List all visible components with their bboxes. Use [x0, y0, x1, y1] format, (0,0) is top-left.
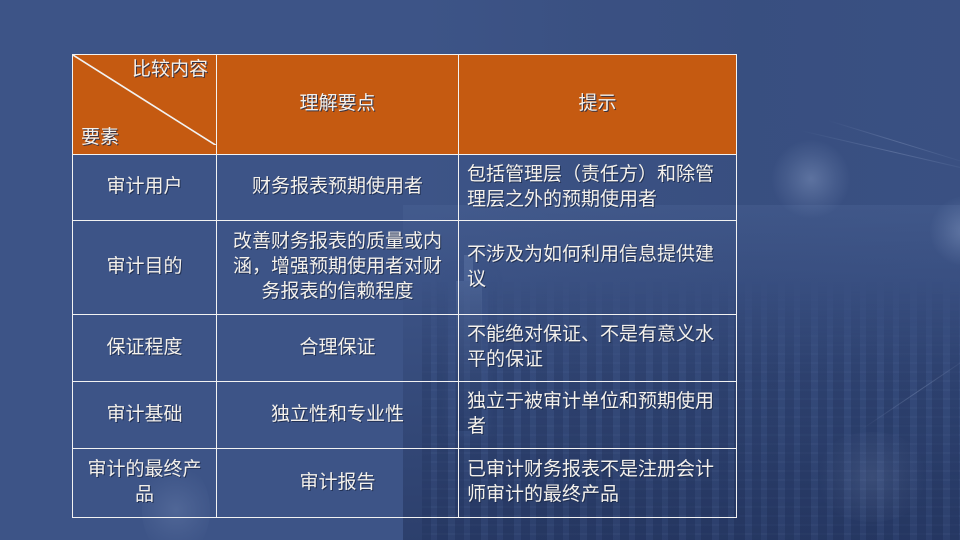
row-tip: 独立于被审计单位和预期使用者	[459, 382, 737, 449]
row-element-label: 审计的最终产品	[73, 449, 217, 518]
row-tip: 不涉及为如何利用信息提供建议	[459, 221, 737, 315]
row-tip: 已审计财务报表不是注册会计师审计的最终产品	[459, 449, 737, 518]
row-element-label: 审计目的	[73, 221, 217, 315]
corner-bottom-label: 要素	[81, 126, 119, 151]
row-understanding-point: 财务报表预期使用者	[217, 155, 459, 221]
light-glow-icon	[930, 196, 960, 266]
row-understanding-point: 审计报告	[217, 449, 459, 518]
light-streak	[800, 130, 960, 174]
row-element-label: 审计基础	[73, 382, 217, 449]
table-row: 审计目的 改善财务报表的质量或内涵，增强预期使用者对财务报表的信赖程度 不涉及为…	[73, 221, 737, 315]
light-glow-icon	[772, 140, 850, 218]
row-understanding-point: 独立性和专业性	[217, 382, 459, 449]
table-row: 审计的最终产品 审计报告 已审计财务报表不是注册会计师审计的最终产品	[73, 449, 737, 518]
row-element-label: 审计用户	[73, 155, 217, 221]
table-row: 审计用户 财务报表预期使用者 包括管理层（责任方）和除管理层之外的预期使用者	[73, 155, 737, 221]
light-streak	[828, 120, 960, 165]
table-row: 审计基础 独立性和专业性 独立于被审计单位和预期使用者	[73, 382, 737, 449]
row-understanding-point: 改善财务报表的质量或内涵，增强预期使用者对财务报表的信赖程度	[217, 221, 459, 315]
row-tip: 包括管理层（责任方）和除管理层之外的预期使用者	[459, 155, 737, 221]
table-corner-header-cell: 比较内容 要素	[73, 55, 217, 155]
row-element-label: 保证程度	[73, 315, 217, 382]
column-header-tips: 提示	[459, 55, 737, 155]
column-header-understanding-points: 理解要点	[217, 55, 459, 155]
table-row: 保证程度 合理保证 不能绝对保证、不是有意义水平的保证	[73, 315, 737, 382]
table-header-row: 比较内容 要素 理解要点 提示	[73, 55, 737, 155]
slide-canvas: 比较内容 要素 理解要点 提示 审计用户 财务报表预期使用者 包括管理层（责任方…	[0, 0, 960, 540]
light-streak	[860, 352, 960, 431]
corner-top-label: 比较内容	[132, 58, 208, 83]
row-tip: 不能绝对保证、不是有意义水平的保证	[459, 315, 737, 382]
comparison-table: 比较内容 要素 理解要点 提示 审计用户 财务报表预期使用者 包括管理层（责任方…	[72, 54, 737, 518]
row-understanding-point: 合理保证	[217, 315, 459, 382]
light-glow-icon	[812, 432, 932, 522]
